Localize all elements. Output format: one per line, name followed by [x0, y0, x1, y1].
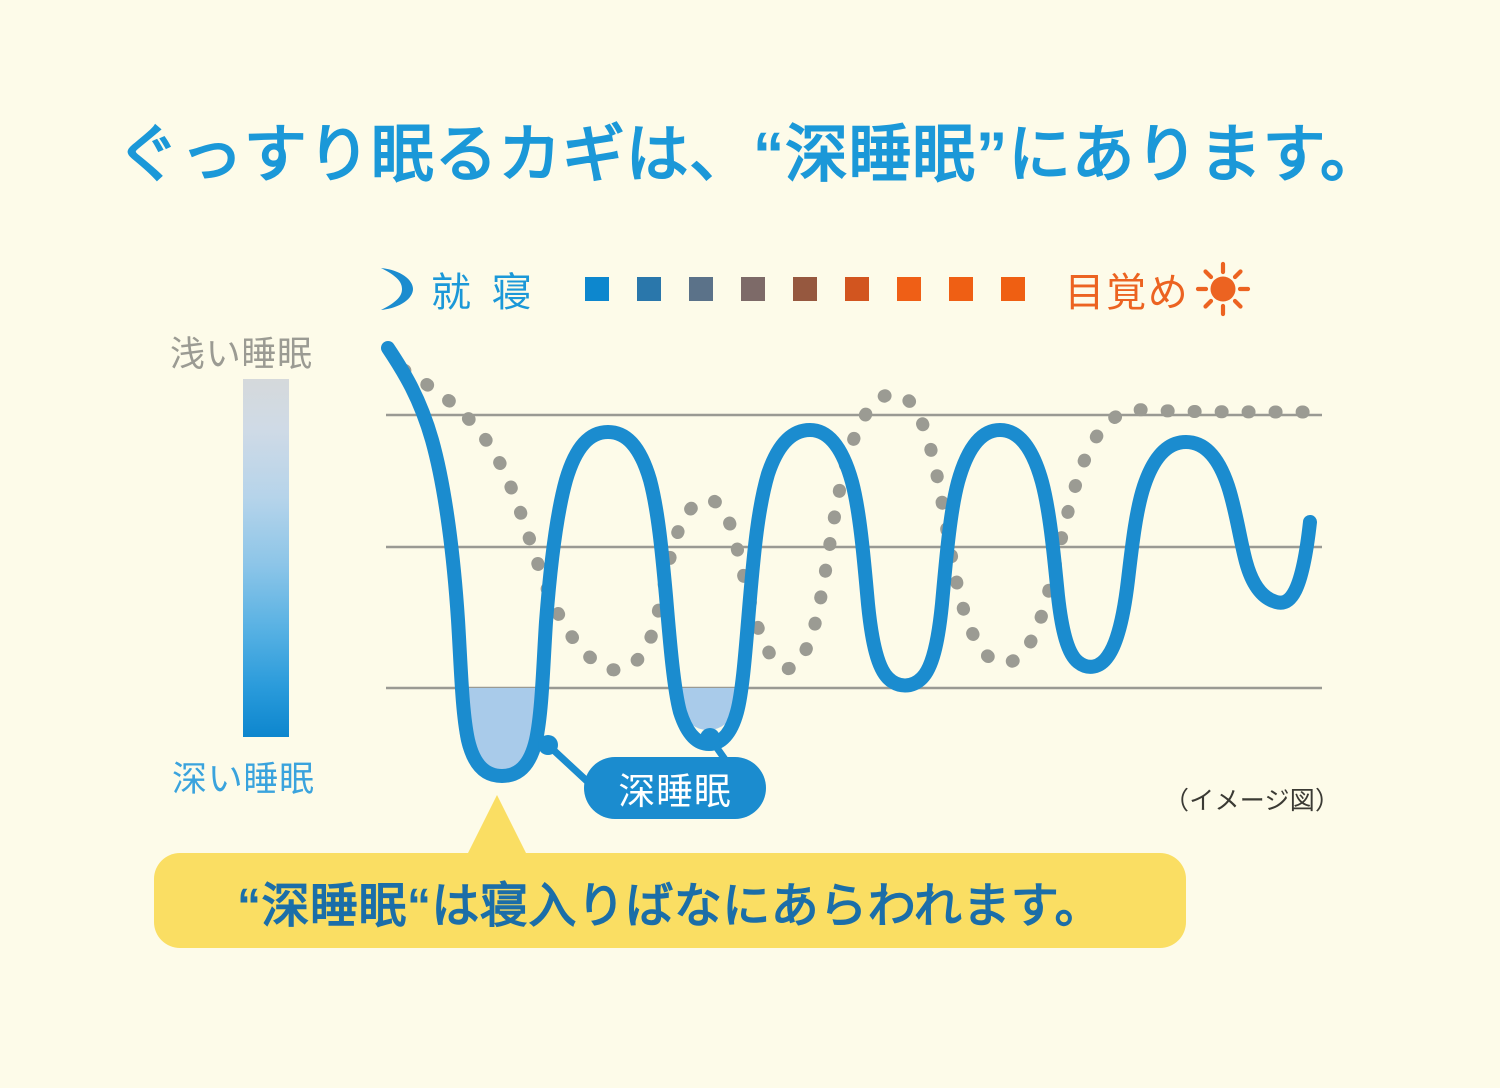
chart-gridlines: [386, 415, 1322, 688]
callout-pointer-triangle: [466, 795, 528, 857]
callout-banner-text: “深睡眠“は寝入りばなにあらわれます。: [237, 866, 1103, 936]
callout-banner: “深睡眠“は寝入りばなにあらわれます。: [154, 853, 1186, 948]
deep-sleep-badge-label: 深睡眠: [618, 761, 731, 815]
image-caption: （イメージ図）: [1164, 781, 1340, 817]
deep-sleep-badge: 深睡眠: [584, 757, 766, 819]
